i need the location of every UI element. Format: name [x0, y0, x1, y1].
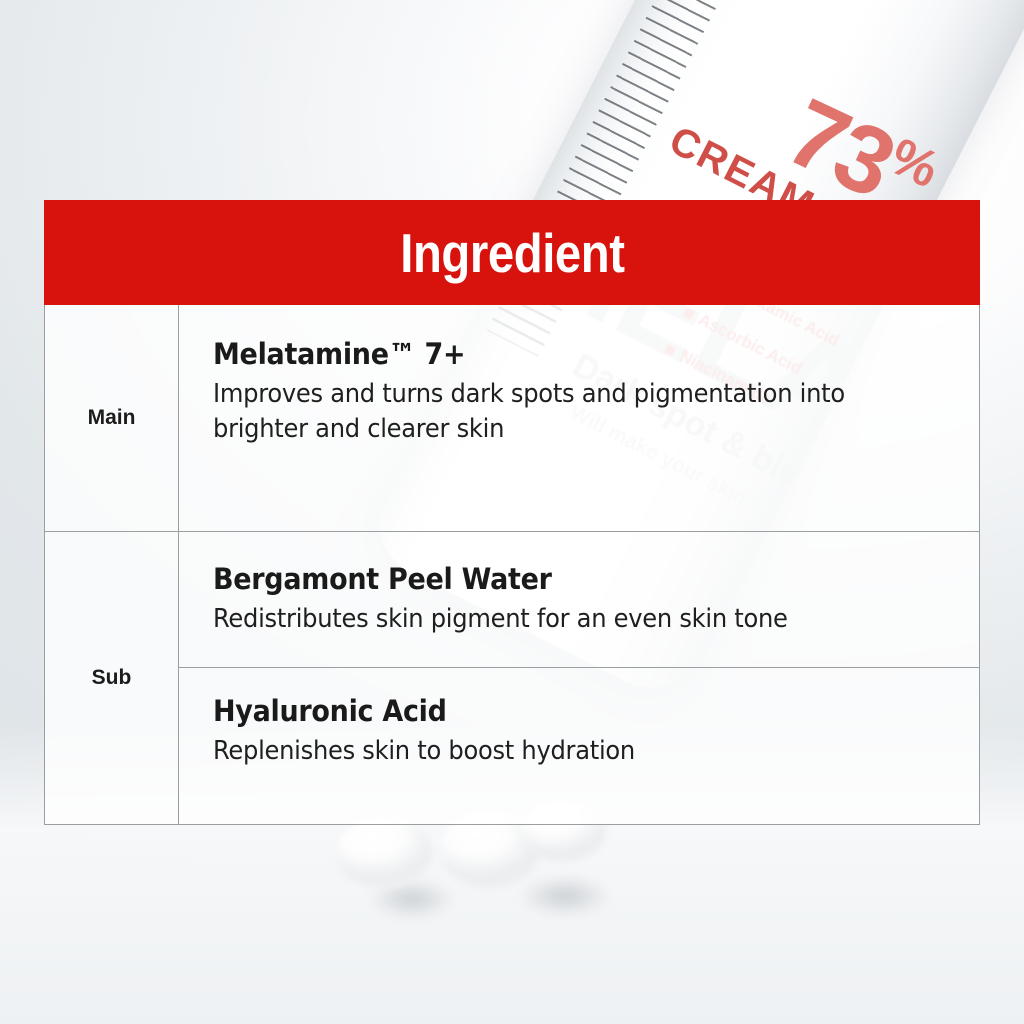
ingredient-group-main: Melatamine™ 7+ Improves and turns dark s…: [179, 305, 979, 531]
table-row: Sub Bergamont Peel Water Redistributes s…: [45, 531, 979, 824]
ingredient-name: Melatamine™ 7+: [213, 337, 894, 371]
ingredient-table: Ingredient Main Melatamine™ 7+ Improves …: [44, 200, 980, 825]
table-row: Main Melatamine™ 7+ Improves and turns d…: [45, 305, 979, 531]
ingredient-item: Bergamont Peel Water Redistributes skin …: [179, 532, 979, 667]
ingredient-description: Improves and turns dark spots and pigmen…: [213, 377, 894, 447]
ingredient-item: Hyaluronic Acid Replenishes skin to boos…: [179, 667, 979, 797]
blurred-cap: [336, 818, 432, 888]
ingredient-group-sub: Bergamont Peel Water Redistributes skin …: [179, 532, 979, 824]
page-root: 73% CREAM MELANO Dark spot & blemish car…: [0, 0, 1024, 1024]
ingredient-name: Bergamont Peel Water: [213, 562, 894, 596]
ingredient-description: Redistributes skin pigment for an even s…: [213, 602, 894, 637]
ingredient-name: Hyaluronic Acid: [213, 694, 894, 728]
ingredient-description: Replenishes skin to boost hydration: [213, 734, 894, 769]
page-title: Ingredient: [400, 221, 624, 285]
category-label-main: Main: [45, 305, 179, 531]
category-label-sub: Sub: [45, 532, 179, 824]
ingredient-item: Melatamine™ 7+ Improves and turns dark s…: [179, 305, 979, 481]
table-header: Ingredient: [44, 200, 980, 305]
